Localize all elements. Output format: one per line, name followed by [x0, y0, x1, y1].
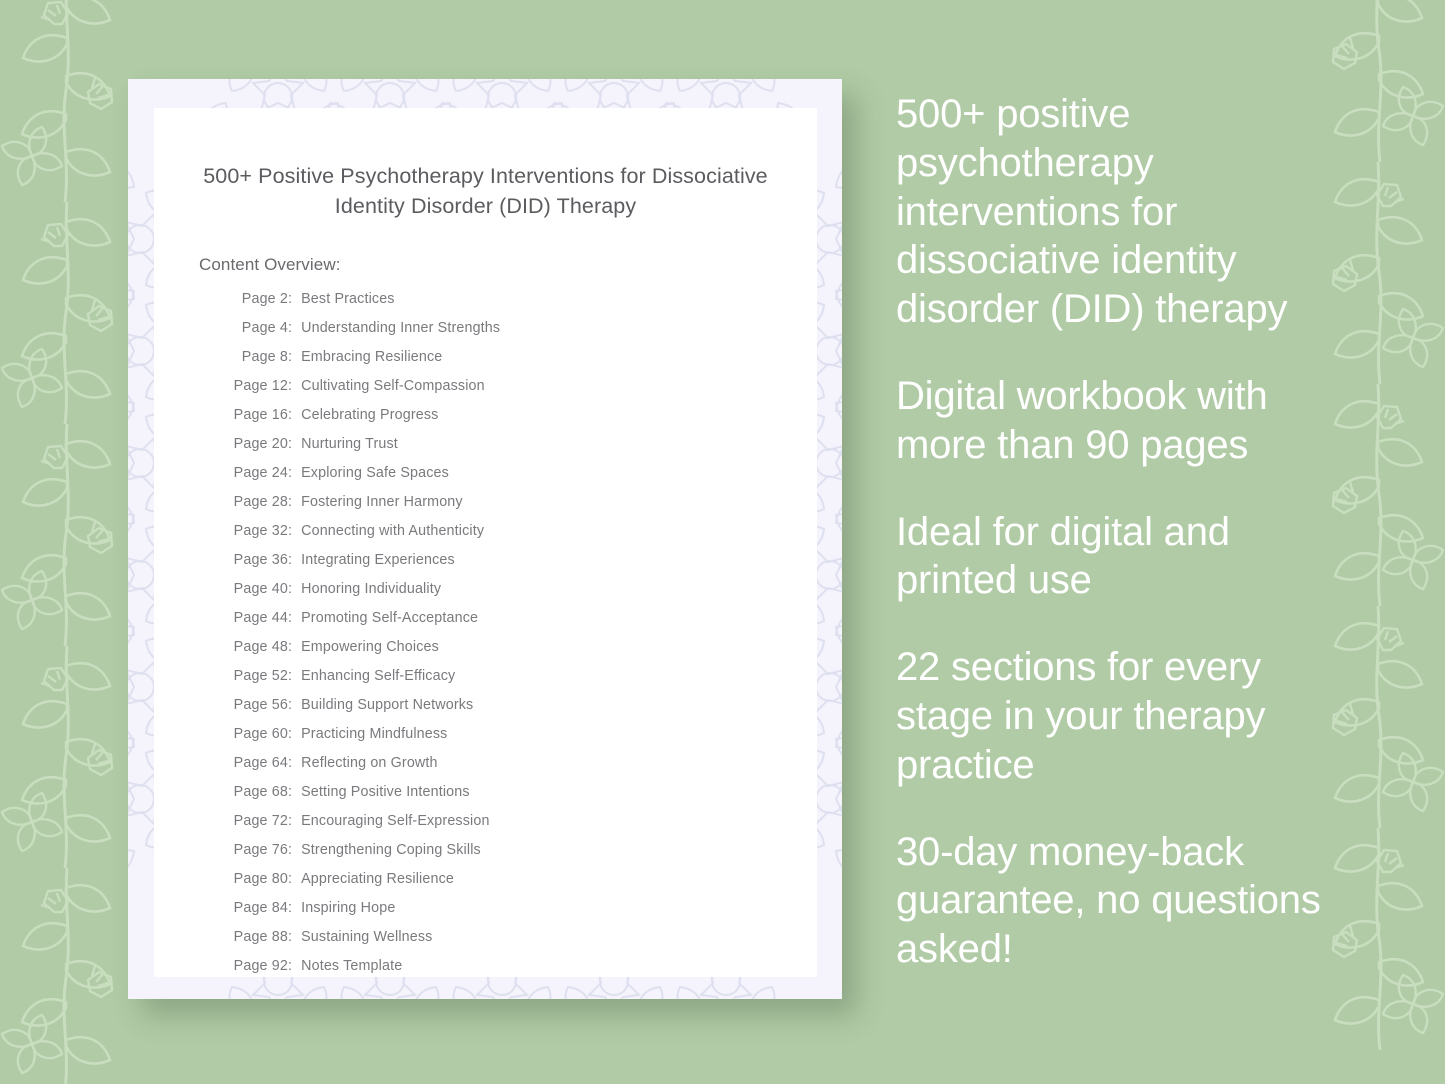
toc-row: Page 20:Nurturing Trust [222, 437, 817, 466]
toc-separator: : [288, 756, 301, 770]
marketing-line: Digital workbook with more than 90 pages [896, 372, 1328, 470]
toc-separator: : [288, 785, 301, 799]
toc-separator: : [288, 930, 301, 944]
toc-row: Page 40:Honoring Individuality [222, 582, 817, 611]
content-overview-label: Content Overview: [154, 221, 817, 275]
toc-row: Page 48:Empowering Choices [222, 640, 817, 669]
toc-entry-title: Exploring Safe Spaces [301, 466, 449, 480]
toc-page-number: Page 72 [222, 814, 288, 828]
toc-page-number: Page 92 [222, 959, 288, 973]
page-title: 500+ Positive Psychotherapy Intervention… [154, 108, 817, 221]
toc-row: Page 80:Appreciating Resilience [222, 872, 817, 901]
toc-entry-title: Understanding Inner Strengths [301, 321, 500, 335]
toc-page-number: Page 20 [222, 437, 288, 451]
toc-separator: : [288, 611, 301, 625]
toc-row: Page 24:Exploring Safe Spaces [222, 466, 817, 495]
toc-page-number: Page 52 [222, 669, 288, 683]
toc-entry-title: Promoting Self-Acceptance [301, 611, 478, 625]
toc-row: Page 56:Building Support Networks [222, 698, 817, 727]
toc-entry-title: Reflecting on Growth [301, 756, 438, 770]
toc-page-number: Page 32 [222, 524, 288, 538]
toc-page-number: Page 68 [222, 785, 288, 799]
toc-separator: : [288, 669, 301, 683]
toc-page-number: Page 60 [222, 727, 288, 741]
marketing-line: 22 sections for every stage in your ther… [896, 643, 1328, 789]
toc-row: Page 28:Fostering Inner Harmony [222, 495, 817, 524]
toc-entry-title: Encouraging Self-Expression [301, 814, 489, 828]
toc-page-number: Page 40 [222, 582, 288, 596]
toc-page-number: Page 64 [222, 756, 288, 770]
toc-row: Page 72:Encouraging Self-Expression [222, 814, 817, 843]
toc-separator: : [288, 292, 301, 306]
toc-page-number: Page 24 [222, 466, 288, 480]
toc-row: Page 88:Sustaining Wellness [222, 930, 817, 959]
toc-row: Page 44:Promoting Self-Acceptance [222, 611, 817, 640]
toc-entry-title: Integrating Experiences [301, 553, 455, 567]
marketing-column: 500+ positive psychotherapy intervention… [896, 90, 1328, 974]
toc-entry-title: Enhancing Self-Efficacy [301, 669, 455, 683]
toc-entry-title: Setting Positive Intentions [301, 785, 470, 799]
toc-separator: : [288, 524, 301, 538]
toc-row: Page 76:Strengthening Coping Skills [222, 843, 817, 872]
toc-entry-title: Nurturing Trust [301, 437, 398, 451]
toc-entry-title: Fostering Inner Harmony [301, 495, 463, 509]
toc-entry-title: Empowering Choices [301, 640, 439, 654]
product-listing-image: 500+ Positive Psychotherapy Intervention… [0, 0, 1445, 1084]
toc-separator: : [288, 640, 301, 654]
toc-page-number: Page 12 [222, 379, 288, 393]
toc-row: Page 16:Celebrating Progress [222, 408, 817, 437]
toc-page-number: Page 44 [222, 611, 288, 625]
toc-entry-title: Practicing Mindfulness [301, 727, 447, 741]
toc-entry-title: Best Practices [301, 292, 394, 306]
toc-entry-title: Honoring Individuality [301, 582, 441, 596]
toc-entry-title: Inspiring Hope [301, 901, 395, 915]
toc-separator: : [288, 408, 301, 422]
toc-row: Page 32:Connecting with Authenticity [222, 524, 817, 553]
marketing-line: 30-day money-back guarantee, no question… [896, 828, 1328, 974]
toc-page-number: Page 84 [222, 901, 288, 915]
toc-page-number: Page 4 [222, 321, 288, 335]
toc-page-number: Page 36 [222, 553, 288, 567]
toc-separator: : [288, 814, 301, 828]
toc-page-number: Page 76 [222, 843, 288, 857]
marketing-line: 500+ positive psychotherapy intervention… [896, 90, 1328, 334]
toc-separator: : [288, 437, 301, 451]
toc-row: Page 60:Practicing Mindfulness [222, 727, 817, 756]
toc-entry-title: Sustaining Wellness [301, 930, 432, 944]
toc-entry-title: Celebrating Progress [301, 408, 438, 422]
toc-separator: : [288, 727, 301, 741]
toc-row: Page 52:Enhancing Self-Efficacy [222, 669, 817, 698]
toc-separator: : [288, 872, 301, 886]
toc-row: Page 4:Understanding Inner Strengths [222, 321, 817, 350]
toc-row: Page 2:Best Practices [222, 292, 817, 321]
toc-separator: : [288, 959, 301, 973]
toc-row: Page 68:Setting Positive Intentions [222, 785, 817, 814]
toc-row: Page 64:Reflecting on Growth [222, 756, 817, 785]
toc-entry-title: Building Support Networks [301, 698, 473, 712]
toc-separator: : [288, 582, 301, 596]
toc-separator: : [288, 466, 301, 480]
toc-page-number: Page 80 [222, 872, 288, 886]
toc-page-number: Page 28 [222, 495, 288, 509]
marketing-line: Ideal for digital and printed use [896, 508, 1328, 606]
toc-entry-title: Cultivating Self-Compassion [301, 379, 485, 393]
toc-row: Page 36:Integrating Experiences [222, 553, 817, 582]
toc-separator: : [288, 553, 301, 567]
toc-entry-title: Embracing Resilience [301, 350, 442, 364]
toc-entry-title: Notes Template [301, 959, 402, 973]
toc-page-number: Page 48 [222, 640, 288, 654]
toc-row: Page 8:Embracing Resilience [222, 350, 817, 379]
toc-entry-title: Connecting with Authenticity [301, 524, 484, 538]
toc-separator: : [288, 321, 301, 335]
toc-page-number: Page 88 [222, 930, 288, 944]
toc-page-number: Page 56 [222, 698, 288, 712]
product-card: 500+ Positive Psychotherapy Intervention… [128, 79, 842, 999]
toc-page-number: Page 16 [222, 408, 288, 422]
toc-entry-title: Strengthening Coping Skills [301, 843, 481, 857]
floral-vine-left-icon [0, 0, 142, 1084]
toc-separator: : [288, 843, 301, 857]
toc-page-number: Page 8 [222, 350, 288, 364]
toc-separator: : [288, 350, 301, 364]
toc-separator: : [288, 901, 301, 915]
table-of-contents: Page 2:Best PracticesPage 4:Understandin… [154, 275, 817, 977]
toc-separator: : [288, 379, 301, 393]
toc-row: Page 84:Inspiring Hope [222, 901, 817, 930]
toc-entry-title: Appreciating Resilience [301, 872, 454, 886]
page-sheet: 500+ Positive Psychotherapy Intervention… [154, 108, 817, 977]
toc-row: Page 12:Cultivating Self-Compassion [222, 379, 817, 408]
toc-separator: : [288, 495, 301, 509]
toc-row: Page 92:Notes Template [222, 959, 817, 977]
toc-separator: : [288, 698, 301, 712]
toc-page-number: Page 2 [222, 292, 288, 306]
